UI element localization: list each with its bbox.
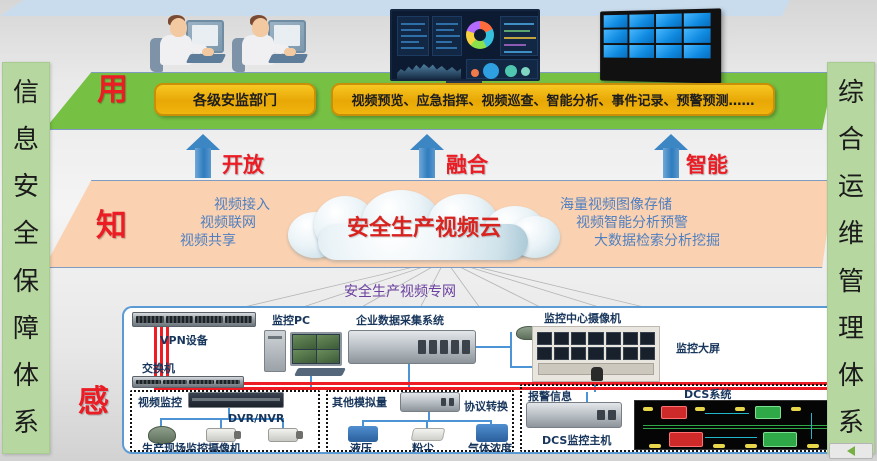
up-arrow-icon [654,134,688,178]
dashboard-screen [390,9,540,81]
up-arrow-icon [410,134,444,178]
wall-screens [537,332,655,360]
pillar-right-char-5: 理 [838,316,864,342]
dash-panel [397,16,429,56]
label-site-cameras: 生产现场监控摄像机 [142,440,241,454]
label-monitor-wall: 监控大屏 [676,340,720,356]
arrow-label-open: 开放 [222,149,264,179]
label-dvr-nvr: DVR/NVR [228,412,284,425]
pillar-right-char-7: 系 [838,410,864,436]
pc-tower-icon [264,330,286,372]
dash-bubble-panel [466,59,538,79]
capability-video-access: 视频接入 [120,196,270,214]
corner-play-tab[interactable] [829,443,873,459]
operators-clipart [148,8,308,82]
blue-wire [510,366,532,368]
capability-bigdata-mining: 大数据检索分析挖掘 [594,232,780,250]
vpn-device-icon [132,312,256,327]
video-wall-frame [600,8,721,83]
pc-keyboard-icon [294,368,346,376]
video-wall-icon [596,10,720,82]
pillar-left-char-4: 保 [13,269,39,295]
label-switch: 交换机 [142,360,175,376]
pillar-left-char-6: 体 [13,363,39,389]
layer-letter-use: 用 [97,64,128,109]
pillar-left-char-5: 障 [13,316,39,342]
pillar-operations-management: 综 合 运 维 管 理 体 系 [827,62,875,454]
blue-wire [476,346,512,348]
pillar-right-char-0: 综 [838,80,864,106]
label-vpn-device: VPN设备 [160,332,208,348]
head-icon [252,18,269,37]
private-network-label: 安全生产视频专网 [344,281,456,301]
capability-video-share: 视频共享 [120,232,236,250]
dash-panel [432,16,462,56]
know-right-capabilities: 海量视频图像存储 视频智能分析预警 大数据检索分析挖掘 [560,196,780,250]
pill-platform-functions[interactable]: 视频预览、应急指挥、视频巡查、智能分析、事件记录、预警预测…… [331,83,775,116]
label-dcs-system: DCS系统 [684,386,731,402]
pillar-right-char-1: 合 [838,127,864,153]
up-arrow-icon [186,134,220,178]
capability-mass-storage: 海量视频图像存储 [560,196,780,214]
label-hydraulic: 液压 [350,440,372,454]
video-wall-grid [604,13,711,59]
pillar-right-char-6: 体 [838,363,864,389]
pillar-left-char-7: 系 [13,410,39,436]
capability-video-network: 视频联网 [120,214,256,232]
label-other-analog: 其他模拟量 [332,394,387,410]
pillar-left-char-2: 安 [13,174,39,200]
know-left-capabilities: 视频接入 视频联网 视频共享 [120,196,270,250]
architecture-diagram: 信 息 安 全 保 障 体 系 综 合 运 维 管 理 体 系 用 知 感 [0,0,877,461]
pc-screen-icon [290,332,342,366]
label-video-monitoring: 视频监控 [138,394,182,410]
video-cloud-shape: 安全生产视频云 [288,190,560,262]
dash-sparkline [397,59,461,79]
pillar-right-char-3: 维 [838,221,864,247]
pillar-information-security: 信 息 安 全 保 障 体 系 [2,62,50,454]
play-triangle-icon [847,446,855,456]
capability-smart-analysis: 视频智能分析预警 [576,214,780,232]
label-data-collection-system: 企业数据采集系统 [356,312,444,328]
pillar-left-char-3: 全 [13,221,39,247]
console-chair [591,367,603,381]
operator-person-icon [148,8,226,82]
pillar-left-char-1: 息 [13,127,39,153]
industrial-server-icon [348,330,476,364]
cloud-title: 安全生产视频云 [288,210,560,242]
dash-donut-chart [466,21,494,49]
label-dcs-host: DCS监控主机 [542,432,611,448]
hand-icon [284,48,296,56]
sense-layer-panel: VPN设备 交换机 监控PC 企业数据采集系统 监控中心摄像机 [122,306,864,454]
label-protocol-conversion: 协议转换 [464,398,508,414]
label-dust: 粉尘 [412,440,434,454]
arrow-label-intelligent: 智能 [686,149,728,179]
blue-wire [510,332,512,368]
layer-letter-know: 知 [96,200,127,245]
hand-icon [202,48,214,56]
pillar-right-char-2: 运 [838,174,864,200]
layer-letter-sense: 感 [78,376,109,421]
pillar-left-char-0: 信 [13,80,39,106]
pill-supervision-departments[interactable]: 各级安监部门 [154,83,316,116]
operator-person-icon [230,8,308,82]
switch-device-icon [132,376,244,388]
dash-panel [500,16,538,56]
monitor-wall-icon [532,326,660,382]
label-alarm-info: 报警信息 [528,388,572,404]
pillar-right-char-4: 管 [838,269,864,295]
dashboard-monitor-icon [390,9,540,81]
label-center-camera: 监控中心摄像机 [544,310,621,326]
head-icon [170,18,187,37]
label-monitor-pc: 监控PC [272,312,310,328]
arrow-label-convergence: 融合 [446,149,488,179]
label-gas-concentration: 气体浓度 [468,440,512,454]
